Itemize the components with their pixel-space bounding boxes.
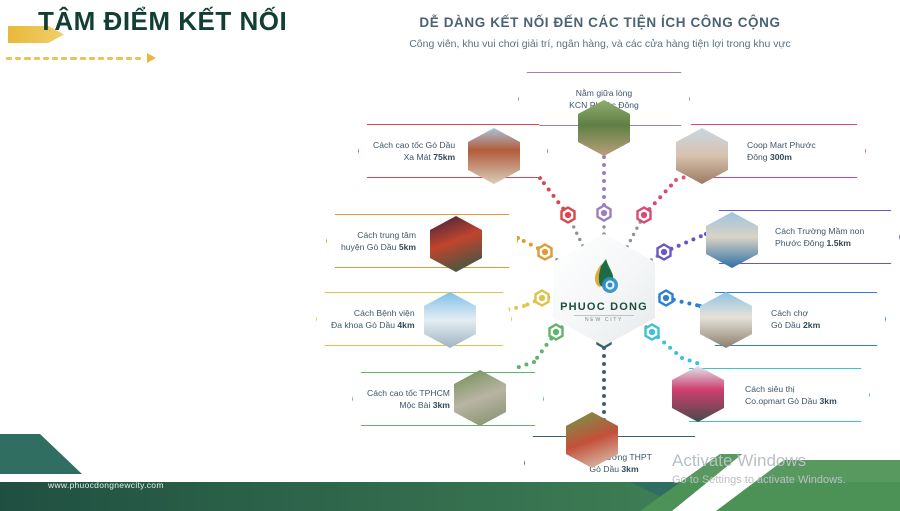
poi-line-2-text: Mộc Bài <box>399 400 430 410</box>
poi-node-label: Coop Mart PhướcĐông 300m <box>747 139 816 164</box>
poi-node-label: Cách chợGò Dầu 2km <box>771 307 820 332</box>
poi-line-1: Nằm giữa lòng <box>531 87 677 99</box>
poi-line-2: Xa Mát 75km <box>373 151 455 163</box>
poi-node-label: Cách cao tốc Gò DầuXa Mát 75km <box>373 139 455 164</box>
footer-website-url[interactable]: www.phuocdongnewcity.com <box>48 480 164 490</box>
poi-distance-value: 5km <box>399 242 416 252</box>
poi-distance-value: 4km <box>397 320 414 330</box>
poi-line-2-text: Phước Đông <box>775 238 824 248</box>
logo-subtitle: NEW CITY <box>585 317 623 323</box>
poi-line-1: Cách cao tốc TPHCM <box>367 387 450 399</box>
poi-line-1: Cách Bệnh viện <box>331 307 415 319</box>
poi-line-1: Cách trung tâm <box>341 229 416 241</box>
poi-distance-value: 300m <box>770 152 792 162</box>
poi-line-2-text: Đa khoa Gò Dầu <box>331 320 395 330</box>
poi-distance-value: 1.5km <box>827 238 851 248</box>
poi-line-1: Coop Mart Phước <box>747 139 816 151</box>
poi-line-1: Cách chợ <box>771 307 820 319</box>
flame-logo-icon <box>587 258 621 298</box>
poi-line-2-text: huyện Gò Dầu <box>341 242 396 252</box>
poi-line-2: Mộc Bài 3km <box>367 399 450 411</box>
watermark-subtitle: Go to Settings to activate Windows. <box>672 472 846 488</box>
logo-name: PHUOC DONG <box>560 301 648 313</box>
poi-node-benh-vien-da-khoa-go-dau[interactable]: Cách Bệnh việnĐa khoa Gò Dầu 4km <box>316 292 512 346</box>
poi-line-2-text: Xa Mát <box>404 152 431 162</box>
poi-line-2-text: Co.opmart Gò Dầu <box>745 396 817 406</box>
poi-line-1: Cách cao tốc Gò Dầu <box>373 139 455 151</box>
poi-line-2: Co.opmart Gò Dầu 3km <box>745 395 837 407</box>
poi-node-label: Cách trung tâmhuyện Gò Dầu 5km <box>341 229 416 254</box>
poi-line-1: Cách siêu thị <box>745 383 837 395</box>
poi-line-2: Đông 300m <box>747 151 816 163</box>
poi-line-2: Gò Dầu 2km <box>771 319 820 331</box>
poi-node-label: Cách Trường Mầm nonPhước Đông 1.5km <box>775 225 864 250</box>
poi-distance-value: 3km <box>433 400 450 410</box>
poi-node-label: Cách siêu thịCo.opmart Gò Dầu 3km <box>745 383 837 408</box>
poi-distance-value: 75km <box>433 152 455 162</box>
poi-node-label: Cách cao tốc TPHCMMộc Bài 3km <box>367 387 450 412</box>
poi-line-2: huyện Gò Dầu 5km <box>341 241 416 253</box>
poi-line-2-text: Gò Dầu <box>771 320 801 330</box>
poi-line-1: Cách Trường Mầm non <box>775 225 864 237</box>
poi-distance-value: 2km <box>803 320 820 330</box>
watermark-title: Activate Windows <box>672 450 846 472</box>
poi-line-2: Đa khoa Gò Dầu 4km <box>331 319 415 331</box>
poi-node-label: Cách Bệnh việnĐa khoa Gò Dầu 4km <box>331 307 415 332</box>
slide-canvas: TÂM ĐIỂM KẾT NỐI DỄ DÀNG KẾT NỐI ĐẾN CÁC… <box>0 0 900 511</box>
poi-line-2-text: Đông <box>747 152 768 162</box>
poi-distance-value: 3km <box>820 396 837 406</box>
poi-node-trung-tam-huyen-go-dau[interactable]: Cách trung tâmhuyện Gò Dầu 5km <box>326 214 518 268</box>
logo-divider <box>574 315 634 316</box>
windows-activation-watermark: Activate Windows Go to Settings to activ… <box>672 450 846 488</box>
poi-line-2: Phước Đông 1.5km <box>775 237 864 249</box>
